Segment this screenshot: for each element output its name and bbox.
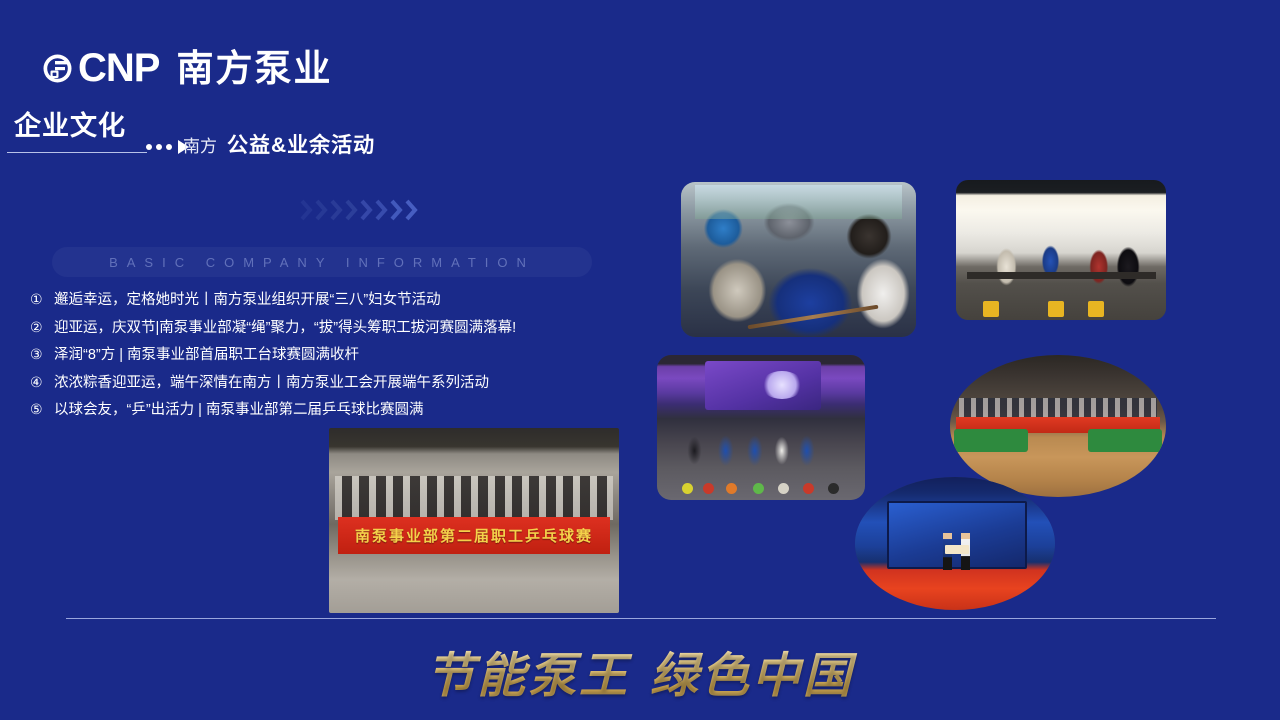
list-item-number: ⑤: [30, 402, 54, 416]
photo-chair-decor: [983, 301, 999, 317]
list-item-number: ④: [30, 375, 54, 389]
section-title-rule: [7, 152, 147, 153]
arrow-dot-2: [156, 144, 162, 150]
list-item-number: ③: [30, 347, 54, 361]
list-item[interactable]: ⑤ 以球会友，“乒”出活力 | 南泵事业部第二届乒乓球比赛圆满: [30, 402, 650, 418]
photo-balloon-decor: [726, 483, 737, 494]
subtitle-prefix: 南方: [183, 138, 217, 155]
subtitle-main: 公益&业余活动: [227, 135, 375, 156]
list-item[interactable]: ② 迎亚运，庆双节|南泵事业部凝“绳”聚力，“拔”得头筹职工拔河赛圆满落幕!: [30, 320, 650, 336]
photo-window-decor: [695, 185, 902, 219]
chevron-right-icon: [315, 199, 329, 221]
list-item-label: 泽润“8”方 | 南泵事业部首届职工台球赛圆满收杆: [54, 348, 359, 363]
cnp-pump-logo-icon: [42, 53, 73, 84]
photo-people-row-decor: [335, 476, 613, 520]
photo-balloon-decor: [778, 483, 789, 494]
photo-balloon-decor: [803, 483, 814, 494]
activity-list: ① 邂逅幸运，定格她时光丨南方泵业组织开展“三八”妇女节活动 ② 迎亚运，庆双节…: [30, 292, 650, 430]
photo-assembly: [657, 355, 865, 500]
chevron-right-icon: [300, 199, 314, 221]
logo-latin-text: CNP: [78, 48, 159, 88]
chevron-right-icon: [360, 199, 374, 221]
list-item-number: ②: [30, 320, 54, 334]
photo-chair-decor: [1088, 301, 1104, 317]
brand-logo: CNP 南方泵业: [42, 48, 332, 88]
list-item[interactable]: ① 邂逅幸运，定格她时光丨南方泵业组织开展“三八”妇女节活动: [30, 292, 650, 308]
list-item-label: 邂逅幸运，定格她时光丨南方泵业组织开展“三八”妇女节活动: [54, 293, 441, 308]
photo-banner-decor: 南泵事业部第二届职工乒乓球赛: [338, 517, 611, 554]
chevron-right-icon: [375, 199, 389, 221]
chevron-right-icon: [390, 199, 404, 221]
arrow-dot-3: [166, 144, 172, 150]
chevron-right-icon: [345, 199, 359, 221]
logo-chinese-text: 南方泵业: [176, 50, 332, 87]
photo-stage-screen-decor: [705, 361, 821, 410]
chevron-right-icon: [405, 199, 419, 221]
slide-root: CNP 南方泵业 企业文化 南方 公益&业余活动 BASIC COMPANY I…: [0, 0, 1280, 720]
photo-tugofwar: [681, 182, 916, 337]
photo-rope-decor: [747, 305, 878, 330]
photo-billiards: [950, 355, 1166, 497]
photo-chair-decor: [1048, 301, 1064, 317]
list-item-label: 以球会友，“乒”出活力 | 南泵事业部第二届乒乓球比赛圆满: [54, 403, 423, 418]
photo-certificate-decor: [945, 545, 969, 554]
photo-led-screen-decor: [887, 501, 1027, 569]
photo-award: [855, 477, 1055, 610]
photo-pingpong: 南泵事业部第二届职工乒乓球赛: [329, 428, 619, 613]
photo-billiard-table-decor: [1088, 429, 1161, 452]
photo-balloon-decor: [682, 483, 693, 494]
list-item-label: 浓浓粽香迎亚运，端午深情在南方丨南方泵业工会开展端午系列活动: [54, 376, 489, 391]
section-title: 企业文化: [14, 113, 126, 140]
list-item[interactable]: ④ 浓浓粽香迎亚运，端午深情在南方丨南方泵业工会开展端午系列活动: [30, 375, 650, 391]
footer-divider: [66, 618, 1216, 619]
photo-banner-text: 南泵事业部第二届职工乒乓球赛: [355, 525, 593, 546]
list-item-label: 迎亚运，庆双节|南泵事业部凝“绳”聚力，“拔”得头筹职工拔河赛圆满落幕!: [54, 321, 516, 336]
arrow-dot-1: [146, 144, 152, 150]
chevron-right-icon: [330, 199, 344, 221]
chevron-decoration: [300, 199, 419, 221]
photo-balloon-decor: [753, 483, 764, 494]
footer-slogan: 节能泵王 绿色中国: [0, 636, 1280, 706]
photo-balloon-decor: [828, 483, 839, 494]
photo-balloon-decor: [703, 483, 714, 494]
photo-cooking: [956, 180, 1166, 320]
basic-info-bar: BASIC COMPANY INFORMATION: [52, 247, 592, 277]
photo-billiard-table-decor: [954, 429, 1027, 452]
list-item[interactable]: ③ 泽润“8”方 | 南泵事业部首届职工台球赛圆满收杆: [30, 347, 650, 363]
photo-table-decor: [967, 272, 1156, 279]
basic-info-label: BASIC COMPANY INFORMATION: [109, 255, 535, 270]
list-item-number: ①: [30, 292, 54, 306]
